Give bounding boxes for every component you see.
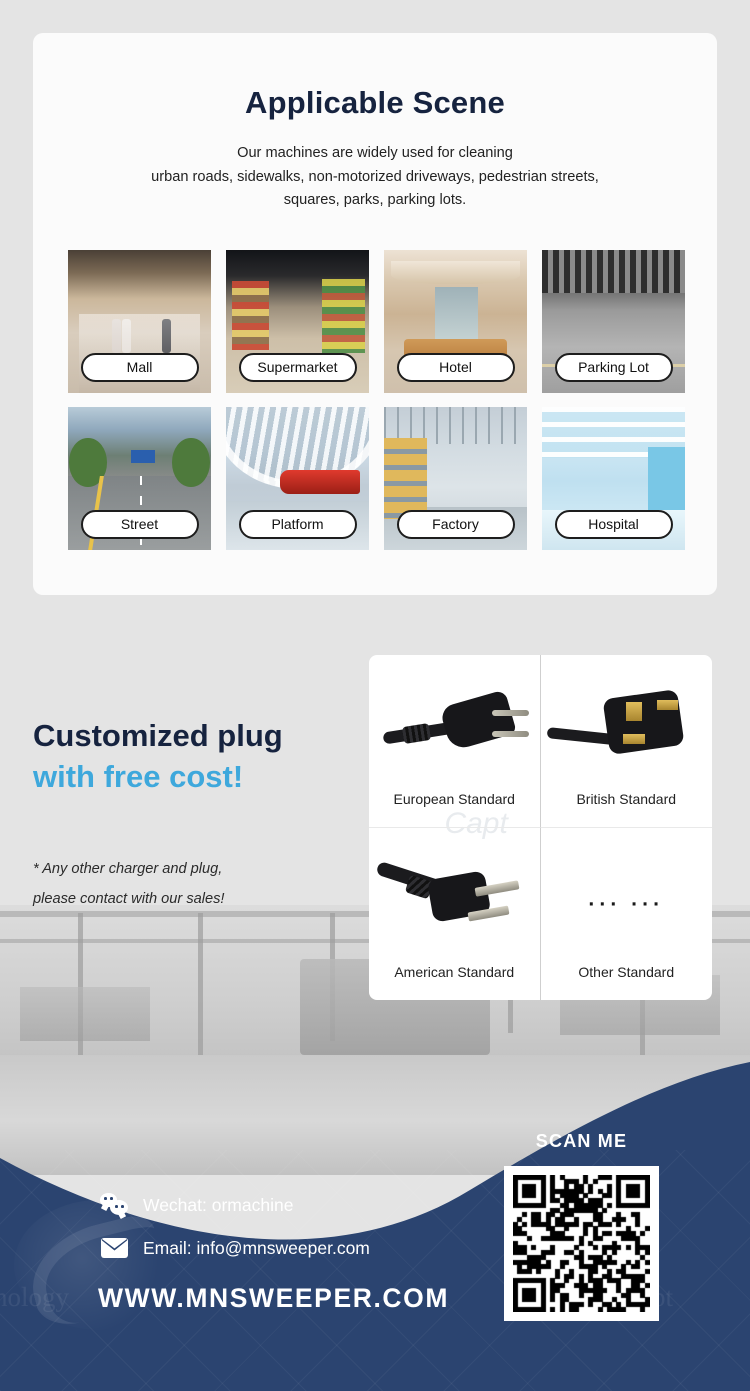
plug-label-british: British Standard (576, 791, 676, 807)
scene-subtitle-line-1: Our machines are widely used for cleanin… (33, 142, 717, 166)
scene-item-factory[interactable]: Factory (384, 407, 527, 550)
scene-label-badge: Hotel (397, 353, 515, 382)
customized-plug-heading-line-1: Customized plug (33, 715, 283, 756)
scene-item-parking-lot[interactable]: Parking Lot (542, 250, 685, 393)
customized-plug-note: * Any other charger and plug, please con… (33, 855, 224, 915)
contact-row-wechat[interactable]: Wechat: ormachine (100, 1192, 370, 1218)
scene-item-hospital[interactable]: Hospital (542, 407, 685, 550)
ellipsis-dots: ··· ··· (541, 893, 713, 917)
scene-label-badge: Supermarket (239, 353, 357, 382)
scene-subtitle-line-2: urban roads, sidewalks, non-motorized dr… (33, 166, 717, 190)
wechat-icon (100, 1192, 130, 1218)
scene-label-badge: Street (81, 510, 199, 539)
other-standard-icon: ··· ··· (541, 842, 713, 955)
customized-plug-heading-line-2: with free cost! (33, 756, 283, 797)
contact-block: Wechat: ormachine Email: info@mnsweeper.… (100, 1192, 370, 1278)
scene-item-hotel[interactable]: Hotel (384, 250, 527, 393)
qr-code[interactable] (504, 1166, 659, 1321)
page-title: Applicable Scene (33, 85, 717, 121)
qr-code-canvas (513, 1175, 650, 1312)
customized-plug-heading: Customized plug with free cost! (33, 715, 283, 797)
scene-label-badge: Mall (81, 353, 199, 382)
customized-plug-note-line-2: please contact with our sales! (33, 885, 224, 915)
email-label: Email: info@mnsweeper.com (143, 1238, 370, 1259)
scene-item-platform[interactable]: Platform (226, 407, 369, 550)
scene-subtitle: Our machines are widely used for cleanin… (33, 142, 717, 213)
scan-me-label: SCAN ME (504, 1131, 659, 1152)
footer-watermark-left: nology (0, 1282, 69, 1313)
scene-item-supermarket[interactable]: Supermarket (226, 250, 369, 393)
scene-thumbnail-grid: MallSupermarketHotelParking LotStreetPla… (68, 250, 685, 550)
plug-label-other: Other Standard (578, 964, 674, 980)
contact-row-email[interactable]: Email: info@mnsweeper.com (100, 1235, 370, 1261)
plug-standards-card: Capt European Standard British Standard … (369, 655, 712, 1000)
plug-cell-british: British Standard (541, 655, 713, 828)
scene-item-mall[interactable]: Mall (68, 250, 211, 393)
british-plug-icon (541, 669, 713, 781)
scene-label-badge: Hospital (555, 510, 673, 539)
scene-item-street[interactable]: Street (68, 407, 211, 550)
plug-label-american: American Standard (394, 964, 514, 980)
scan-me-block: SCAN ME (504, 1131, 659, 1321)
american-plug-icon (369, 842, 540, 955)
plug-label-european: European Standard (394, 791, 515, 807)
plug-cell-american: American Standard (369, 828, 541, 1001)
applicable-scene-card: Applicable Scene Our machines are widely… (33, 33, 717, 595)
website-url[interactable]: WWW.MNSWEEPER.COM (98, 1283, 449, 1314)
wechat-label: Wechat: ormachine (143, 1195, 293, 1216)
european-plug-icon (369, 669, 540, 781)
plug-cell-european: European Standard (369, 655, 541, 828)
scene-label-badge: Factory (397, 510, 515, 539)
scene-label-badge: Platform (239, 510, 357, 539)
customized-plug-note-line-1: * Any other charger and plug, (33, 855, 224, 885)
scene-subtitle-line-3: squares, parks, parking lots. (33, 189, 717, 213)
scene-label-badge: Parking Lot (555, 353, 673, 382)
plug-cell-other: ··· ··· Other Standard (541, 828, 713, 1001)
email-icon (100, 1235, 130, 1261)
